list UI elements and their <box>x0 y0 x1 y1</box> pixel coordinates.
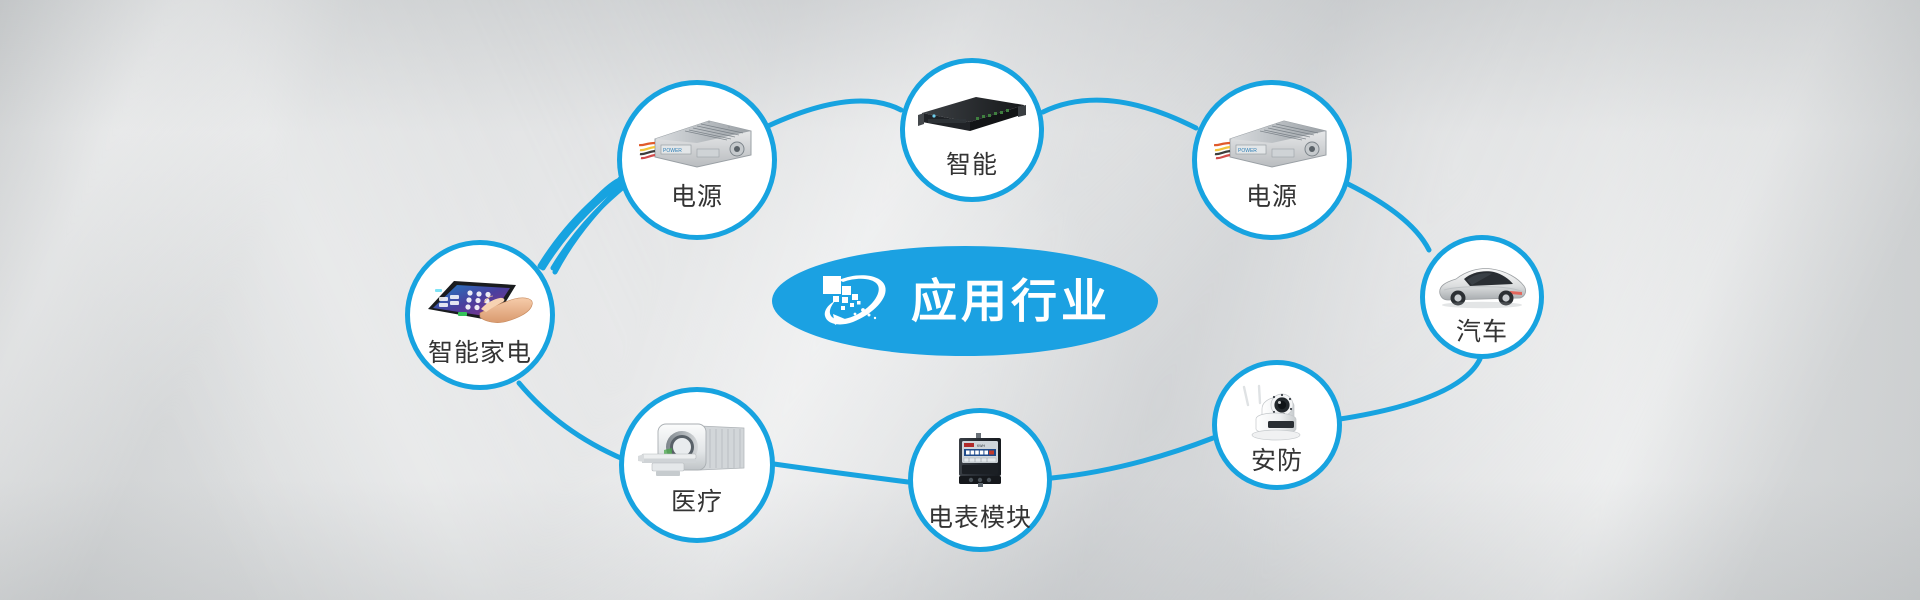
ct-scanner-icon <box>638 418 756 480</box>
node-label: 医疗 <box>624 482 770 518</box>
node-automotive[interactable]: 汽车 <box>1420 235 1544 359</box>
node-medical[interactable]: 医疗 <box>619 387 775 543</box>
svg-text:KWH: KWH <box>977 444 985 448</box>
node-label: 智能家电 <box>410 333 550 369</box>
node-power-left[interactable]: POWER 电源 <box>617 80 777 240</box>
node-security[interactable]: 安防 <box>1212 360 1342 490</box>
node-label: 汽车 <box>1425 312 1539 348</box>
ip-camera-icon <box>1238 381 1316 443</box>
application-ecosystem-banner: POWER 电源 <box>0 0 1920 600</box>
node-label: 电表模块 <box>913 498 1047 534</box>
node-meter-module[interactable]: KWH 电表模块 <box>908 408 1052 552</box>
node-label: 电源 <box>622 177 772 213</box>
tablet-hand-icon <box>424 269 536 331</box>
svg-text:POWER: POWER <box>663 148 682 154</box>
power-supply-icon: POWER <box>1214 109 1330 171</box>
node-smart[interactable]: 智能 <box>900 58 1044 202</box>
node-power-right[interactable]: POWER 电源 <box>1192 80 1352 240</box>
sports-car-icon <box>1434 260 1530 310</box>
node-label: 智能 <box>905 145 1039 181</box>
svg-text:POWER: POWER <box>1238 148 1257 154</box>
node-label: 电源 <box>1197 177 1347 213</box>
center-badge[interactable]: 应用行业 <box>772 246 1158 356</box>
badge-label: 应用行业 <box>911 278 1111 324</box>
orbit-pixel-logo <box>819 270 893 332</box>
power-supply-icon: POWER <box>639 109 755 171</box>
rack-server-icon <box>916 91 1028 139</box>
node-label: 安防 <box>1217 441 1337 477</box>
node-smart-home[interactable]: 智能家电 <box>405 240 555 390</box>
electric-meter-icon: KWH <box>949 431 1011 493</box>
